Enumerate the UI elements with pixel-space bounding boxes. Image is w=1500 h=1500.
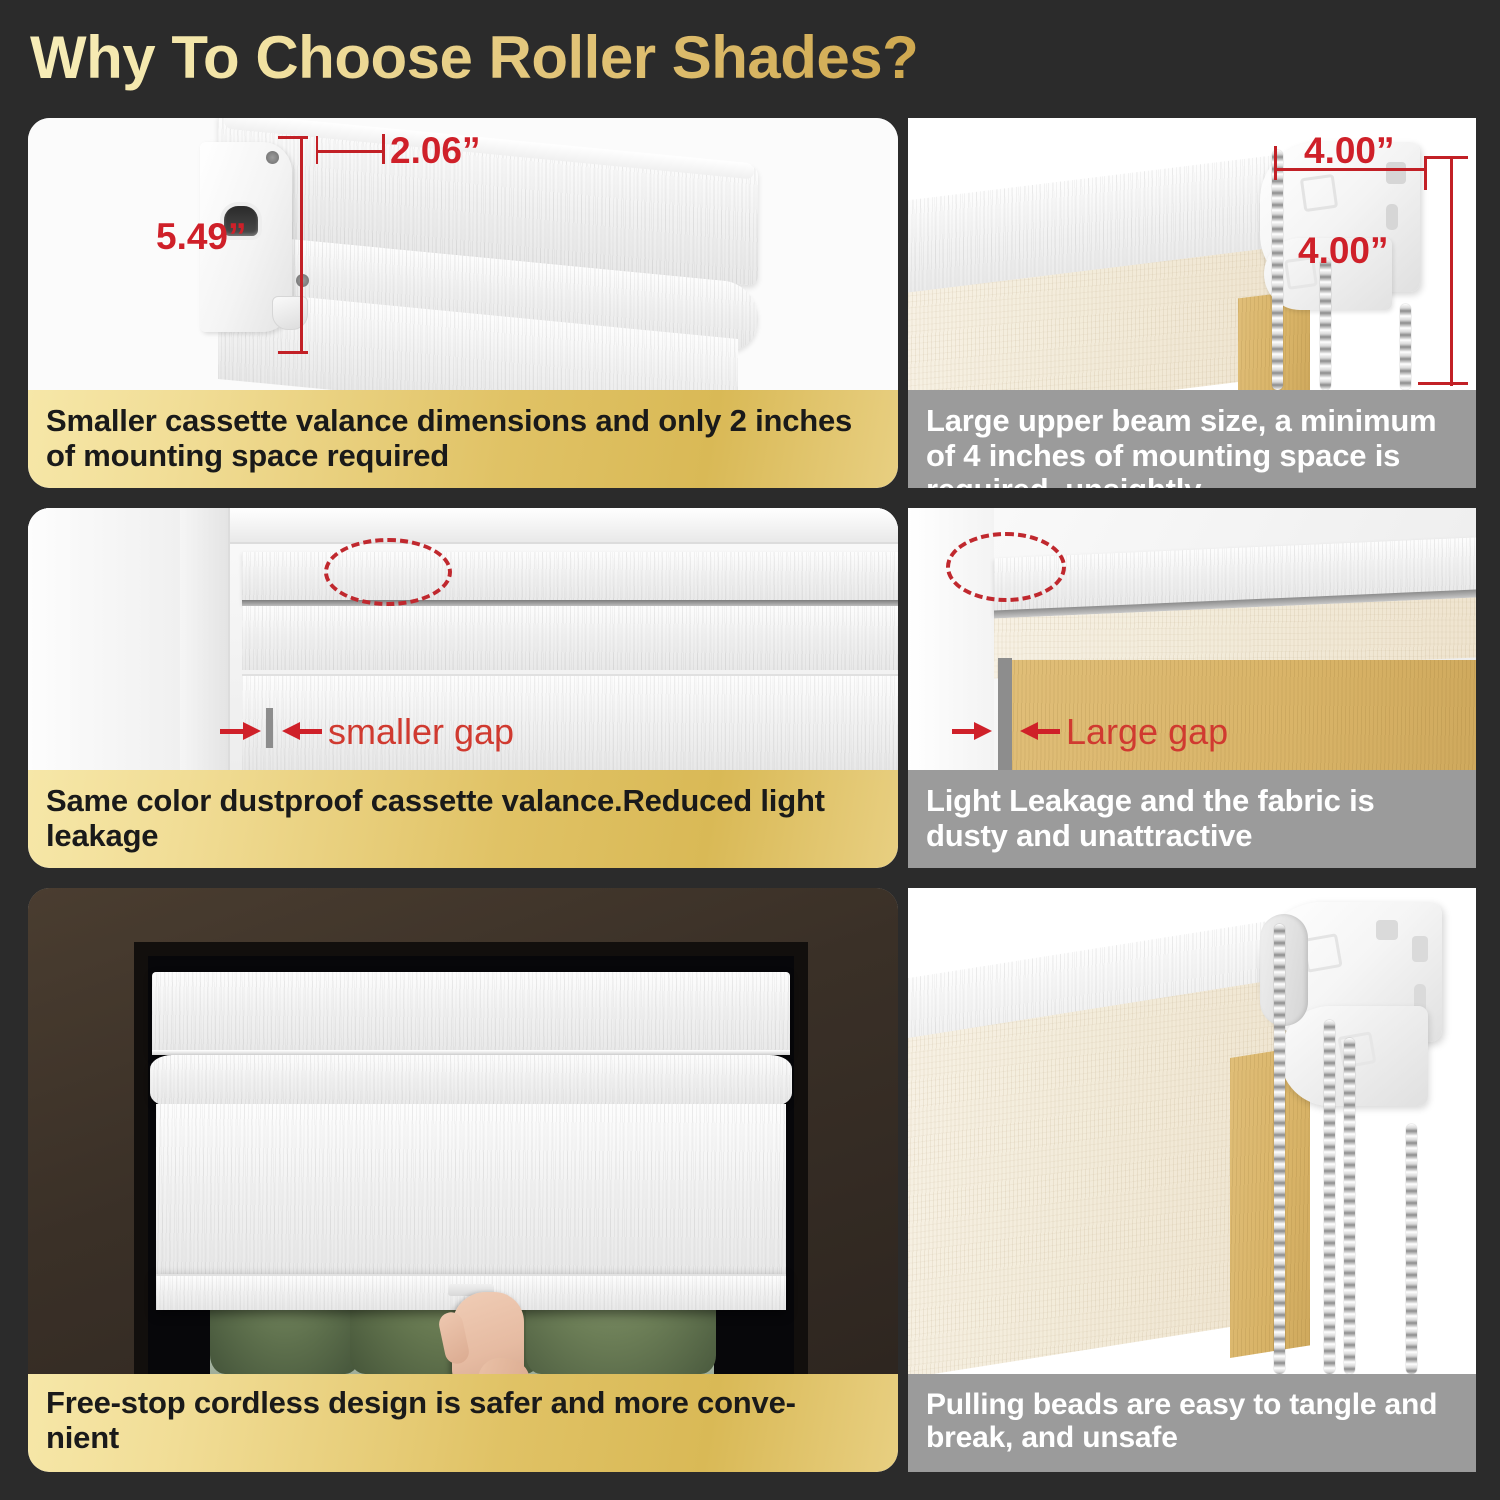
wall-left <box>28 508 180 770</box>
width-dim-tick-right <box>382 134 385 164</box>
bead-chain-3[interactable] <box>1344 1038 1355 1374</box>
cassette-width-label: 2.06” <box>390 130 481 172</box>
caption-bad-beads-text: Pulling beads are easy to tangle and bre… <box>926 1388 1460 1454</box>
caption-bad-gap: Light Leakage and the fabric is dusty an… <box>908 770 1476 868</box>
beam-width-tick-right <box>1424 156 1427 190</box>
cordless-shade-fabric <box>156 1104 786 1284</box>
bead-chain-right[interactable] <box>1400 304 1411 390</box>
gap-highlight-ellipse-2 <box>324 538 452 606</box>
height-dim-tick-bottom <box>278 351 308 354</box>
caption-bad-beam: Large upper beam size, a minimum of 4 in… <box>908 390 1476 488</box>
cordless-lifestyle-photo <box>28 888 898 1374</box>
gap-highlight-ellipse <box>946 532 1066 602</box>
gap-arrow-right-tail <box>1038 729 1060 734</box>
height-dim-line <box>300 136 303 354</box>
beam-height-tick-top <box>1426 156 1468 159</box>
panel-good-gap: smaller gap Same color dustproof cassett… <box>28 508 898 868</box>
beam-height-line <box>1450 156 1453 386</box>
cordless-roller-bar <box>150 1055 792 1107</box>
gap-bar-indicator <box>998 658 1012 770</box>
gap-arrow-right-icon <box>282 722 300 740</box>
caption-good-gap: Same color dustproof cassette valance.Re… <box>28 770 898 868</box>
caption-good-cordless: Free-stop cordless design is safer and m… <box>28 1374 898 1472</box>
beam-height-label: 4.00” <box>1298 230 1389 272</box>
caption-bad-beads: Pulling beads are easy to tangle and bre… <box>908 1374 1476 1472</box>
bead-chain-mid[interactable] <box>1320 258 1331 390</box>
bead-chain-4[interactable] <box>1406 1124 1417 1374</box>
smaller-gap-photo: smaller gap <box>28 508 898 770</box>
beam-width-tick-left <box>1274 146 1277 180</box>
page-title-text: Why To Choose Roller Shades? <box>30 23 918 92</box>
caption-bad-gap-text: Light Leakage and the fabric is dusty an… <box>926 784 1460 853</box>
panel-good-cassette: 2.06” 5.49” Smaller cassette valance dim… <box>28 118 898 488</box>
width-dim-line <box>316 150 384 153</box>
caption-good-cassette-text: Smaller cassette valance dimensions and … <box>46 404 882 473</box>
caption-good-cordless-line2: nient <box>46 1421 119 1456</box>
panel-good-cordless: Free-stop cordless design is safer and m… <box>28 888 898 1472</box>
beam-height-tick-bottom <box>1418 382 1468 385</box>
beam-width-label: 4.00” <box>1304 130 1395 172</box>
gap-bar-indicator <box>266 708 273 748</box>
caption-good-cassette: Smaller cassette valance dimensions and … <box>28 390 898 488</box>
gap-arrow-left-tail <box>220 729 246 734</box>
bead-chain-left[interactable] <box>1272 150 1283 390</box>
gap-arrow-right-tail <box>300 729 322 734</box>
shade-fabric-upper <box>242 606 898 670</box>
caption-good-cordless-line1: Free-stop cordless design is safer and m… <box>46 1386 796 1421</box>
bead-chain-1[interactable] <box>1274 924 1285 1374</box>
large-gap-label: Large gap <box>1066 711 1228 753</box>
smaller-gap-label: smaller gap <box>328 711 514 753</box>
panel-bad-beads: Pulling beads are easy to tangle and bre… <box>908 888 1476 1472</box>
cassette-height-label: 5.49” <box>156 216 247 258</box>
screw-icon-top <box>266 151 279 164</box>
bracket-slot-lower-icon <box>1386 204 1398 230</box>
panel-bad-beam: 4.00” 4.00” Large upper beam size, a min… <box>908 118 1476 488</box>
large-gap-photo: Large gap <box>908 508 1476 770</box>
gap-arrow-left-tail <box>952 729 978 734</box>
height-dim-tick-top <box>278 136 308 139</box>
bracket-slot-a-icon <box>1376 920 1398 940</box>
caption-good-gap-text: Same color dustproof cassette valance.Re… <box>46 784 882 853</box>
cassette-photo: 2.06” 5.49” <box>28 118 898 398</box>
caption-bad-beam-text: Large upper beam size, a minimum of 4 in… <box>926 404 1460 488</box>
window-frame-top <box>178 508 898 544</box>
page-title: Why To Choose Roller Shades? <box>30 18 1030 96</box>
gap-arrow-right-icon <box>1020 722 1038 740</box>
panel-bad-gap: Large gap Light Leakage and the fabric i… <box>908 508 1476 868</box>
bead-chain-2[interactable] <box>1324 1020 1335 1374</box>
cordless-cassette <box>152 972 790 1054</box>
bracket-emboss-icon <box>1300 174 1338 212</box>
beam-photo: 4.00” 4.00” <box>908 118 1476 390</box>
pulling-beads-photo <box>908 888 1476 1374</box>
bracket-slot-b-icon <box>1412 936 1428 962</box>
